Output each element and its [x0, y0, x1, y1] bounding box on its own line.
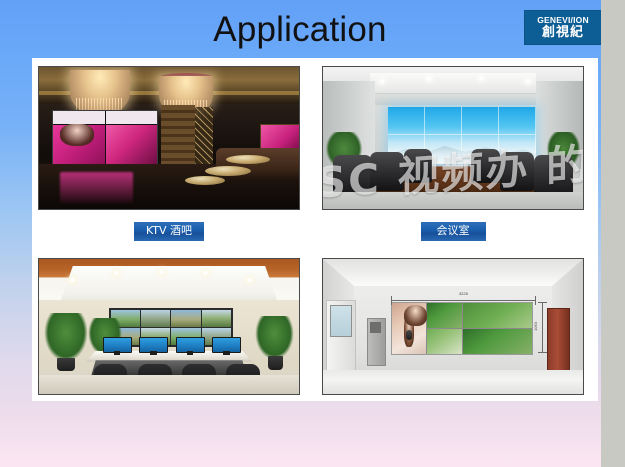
ctrl-pot-right — [268, 356, 284, 370]
ctrl-pot-left — [57, 358, 75, 372]
photo-frame-conference-room[interactable]: SC 视频办 的 — [322, 66, 584, 210]
page-title: Application — [0, 7, 600, 52]
dimension-height: 1063 — [537, 302, 547, 353]
ktv-table-1 — [226, 155, 270, 164]
lobby-screen-camera — [406, 330, 412, 340]
ktv-floor-reflection — [60, 172, 133, 203]
photo-frame-lobby-hall[interactable]: 3228 1063 — [322, 258, 584, 395]
ktv-screen-portrait — [60, 124, 94, 146]
slide-edge-strip — [601, 0, 613, 467]
conf-floor — [323, 192, 583, 209]
photo-ktv-bar — [39, 67, 299, 209]
ctrl-plant-right — [255, 316, 294, 361]
ktv-lattice-screen — [195, 107, 213, 164]
content-panel: KTV 酒吧 — [32, 58, 598, 401]
photo-conference-room: SC 视频办 的 — [323, 67, 583, 209]
ktv-wood-panel-wall — [161, 105, 195, 163]
caption-row-conference-room: 会议室 — [322, 221, 584, 241]
photo-frame-ktv-bar[interactable] — [38, 66, 300, 210]
lobby-ceiling — [323, 259, 583, 286]
photo-control-room — [39, 259, 299, 394]
caption-badge-conference-room: 会议室 — [421, 222, 486, 241]
ktv-side-display — [260, 124, 299, 150]
genevision-logo: GENEVI/ION 創視紀 — [525, 11, 601, 44]
logo-chinese-text: 創視紀 — [542, 25, 584, 40]
ctrl-ceiling-inner — [60, 266, 278, 304]
ctrl-floor — [39, 375, 299, 394]
gallery-item-control-room — [38, 258, 300, 395]
gallery-item-lobby-hall: 3228 1063 — [322, 258, 584, 395]
ctrl-plant-left — [44, 313, 88, 362]
slide: Application GENEVI/ION 創視紀 — [0, 0, 613, 467]
lobby-window — [330, 305, 353, 337]
gallery-item-ktv-bar: KTV 酒吧 — [38, 66, 300, 241]
dimension-height-label: 1063 — [533, 322, 538, 331]
image-gallery-grid: KTV 酒吧 — [32, 58, 598, 401]
lobby-right-door — [547, 308, 570, 372]
photo-lobby-hall: 3228 1063 — [323, 259, 583, 394]
dimension-width: 3228 — [391, 294, 537, 304]
dimension-width-label: 3228 — [391, 291, 537, 297]
gallery-item-conference-room: SC 视频办 的 会议室 — [322, 66, 584, 241]
lobby-screen-portrait-small — [404, 305, 427, 327]
caption-badge-ktv-bar: KTV 酒吧 — [134, 222, 204, 241]
lobby-kiosk-screen — [370, 322, 382, 333]
photo-frame-control-room[interactable] — [38, 258, 300, 395]
caption-row-ktv-bar: KTV 酒吧 — [38, 221, 300, 241]
conf-ceiling-soffit — [370, 73, 536, 94]
lobby-floor — [323, 370, 583, 394]
logo-latin-text: GENEVI/ION — [537, 15, 589, 25]
